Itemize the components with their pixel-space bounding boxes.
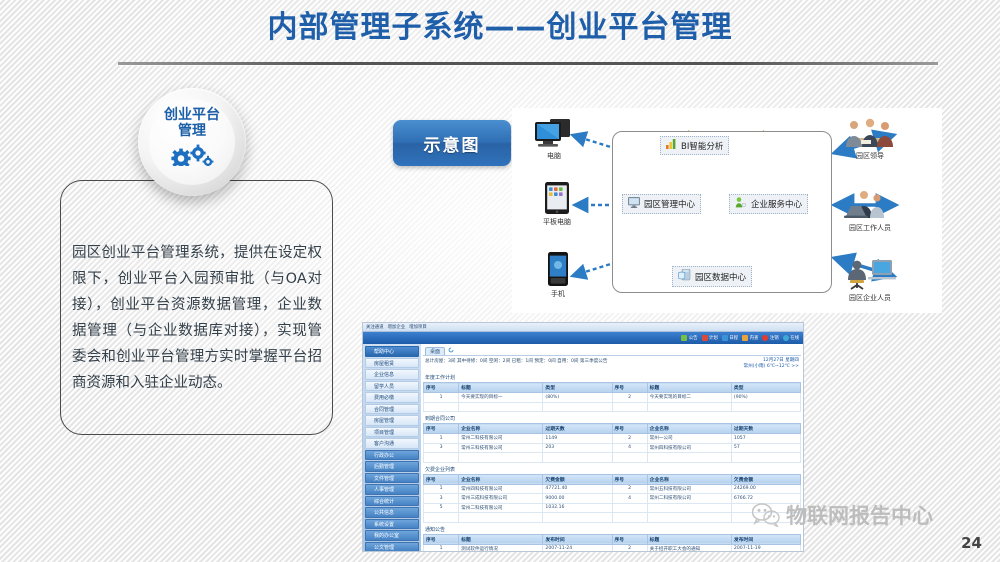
toolbar-button-plan[interactable]: 计划 — [702, 335, 718, 341]
menubar-item[interactable]: 增加项目 — [409, 324, 427, 330]
table-row[interactable]: 5常州二科技有限公司1032.16 — [424, 503, 801, 513]
diagram-node-label: 园区数据中心 — [695, 271, 746, 283]
tablet-icon — [545, 208, 569, 216]
diagram-actor-label: 园区企业人员 — [838, 294, 902, 302]
table-cell: 3 — [424, 443, 459, 453]
calendar-icon — [722, 335, 728, 341]
column-header[interactable]: 企业名称 — [459, 424, 543, 434]
table-cell-empty — [543, 453, 612, 463]
app-menubar: 关注通道 增加企业 增加项目 — [363, 323, 803, 332]
column-header[interactable]: 发布时间 — [731, 534, 800, 544]
leaders-meeting-icon — [841, 142, 899, 150]
table-cell-empty — [647, 513, 731, 523]
table-cell-empty — [459, 453, 543, 463]
table-header-row: 序号标题发布时间序号标题发布时间 — [424, 534, 801, 544]
table-cell: 1 — [424, 393, 459, 403]
app-main: 桌面 总计房屋：3间 其中待修：0间 空闲：2间 已租：1间 预定：0间 自用：… — [421, 344, 803, 552]
column-header[interactable]: 欠费金额 — [543, 474, 612, 484]
description-text: 园区创业平台管理系统，提供在设定权限下，创业平台入园预审批（与OA对接），创业平… — [72, 240, 322, 396]
table-cell: 2 — [612, 393, 647, 403]
sidebar-item[interactable]: 综合统计 — [365, 496, 419, 507]
toolbar-button-online[interactable]: 在线 — [783, 335, 799, 341]
column-header[interactable]: 序号 — [612, 534, 647, 544]
table-cell: 常州四科技有限公司 — [647, 443, 731, 453]
watermark: 物联网报告中心 — [752, 500, 933, 530]
table-filler-row — [424, 402, 801, 412]
database-server-icon — [678, 269, 691, 284]
table-row[interactable]: 1今天要实现的目标一(80%)2今天要实现的目标二(90%) — [424, 393, 801, 403]
watermark-text: 物联网报告中心 — [786, 500, 933, 530]
table-cell: 今天要实现的目标二 — [647, 393, 731, 403]
sidebar-item[interactable]: 企业信息 — [365, 369, 419, 380]
toolbar-button-logout[interactable]: 注销 — [762, 335, 778, 341]
table-cell: 57 — [731, 443, 800, 453]
table-cell: 常州二科技有限公司 — [459, 503, 543, 513]
column-header[interactable]: 序号 — [424, 474, 459, 484]
smartphone-icon — [548, 280, 568, 288]
table-cell: 2007-11-19 — [731, 544, 800, 552]
bar-chart-icon — [666, 139, 677, 152]
table-cell: 1032.16 — [543, 503, 612, 513]
table-header-row: 序号企业名称过期天数序号企业名称过期天数 — [424, 424, 801, 434]
column-header[interactable]: 企业名称 — [647, 424, 731, 434]
diagram-node-label: BI智能分析 — [681, 140, 723, 152]
menubar-item[interactable]: 关注通道 — [366, 324, 384, 330]
table-cell — [647, 503, 731, 513]
diagram-device-label: 平板电脑 — [540, 218, 574, 226]
column-header[interactable]: 标题 — [647, 383, 731, 393]
schematic-tag: 示意图 — [393, 120, 511, 166]
refresh-icon[interactable] — [448, 347, 454, 355]
service-person-icon — [735, 197, 747, 211]
table-cell-empty — [731, 453, 800, 463]
toolbar-label: 日程 — [729, 335, 738, 341]
app-section: 欠费企业列表序号企业名称欠费金额序号企业名称欠费金额1常州四科技有限公司4772… — [423, 465, 801, 523]
header-divider — [118, 62, 938, 65]
diagram-actor-enterprise-user: 园区企业人员 — [838, 256, 902, 302]
table-cell: 5 — [424, 503, 459, 513]
monitor-icon — [628, 197, 640, 211]
plan-icon — [702, 335, 708, 341]
table-row[interactable]: 3常州三成科技有限公司9000.004常州二科技有限公司6766.72 — [424, 494, 801, 504]
table-row[interactable]: 1常州四科技有限公司47721.402常州五科技有限公司24269.00 — [424, 484, 801, 494]
column-header[interactable]: 序号 — [424, 534, 459, 544]
toolbar-button-announcement[interactable]: 公告 — [681, 335, 697, 341]
app-sidebar: 帮助中心房屋租赁企业信息留学人员费用必缴合同管理房屋管理项目管理客户沟通行政办公… — [363, 344, 421, 552]
app-toolbar: 公告 计划 日程 内查 注销 在线 — [363, 332, 803, 344]
column-header[interactable]: 序号 — [424, 424, 459, 434]
slide-header: 内部管理子系统——创业平台管理 — [0, 8, 1000, 48]
sidebar-item[interactable]: 房屋租赁 — [365, 358, 419, 369]
table-cell: 1 — [424, 484, 459, 494]
sidebar-item[interactable]: 人事管理 — [365, 484, 419, 495]
toolbar-label: 注销 — [770, 335, 779, 341]
column-header[interactable]: 类型 — [543, 383, 612, 393]
schematic-tag-label: 示意图 — [424, 131, 481, 156]
table-cell: 4 — [612, 443, 647, 453]
app-tabrow: 桌面 — [423, 346, 801, 356]
table-cell: 常州二科技有限公司 — [647, 494, 731, 504]
table-cell-empty — [543, 513, 612, 523]
sidebar-item[interactable]: 系统设置 — [365, 519, 419, 530]
table-cell: 测试软件运行情况 — [459, 544, 543, 552]
data-table: 序号企业名称欠费金额序号企业名称欠费金额1常州四科技有限公司47721.402常… — [423, 474, 801, 523]
table-cell-empty — [424, 402, 459, 412]
toolbar-label: 在线 — [790, 335, 799, 341]
table-cell: 常州一公司 — [647, 434, 731, 444]
online-icon — [783, 335, 789, 341]
data-table: 序号标题发布时间序号标题发布时间1测试软件运行情况2007-11-242关于招开… — [423, 534, 801, 553]
section-title: 欠费企业列表 — [423, 465, 801, 474]
table-cell: 47721.40 — [543, 484, 612, 494]
sidebar-item[interactable]: 客户沟通 — [365, 438, 419, 449]
column-header[interactable]: 序号 — [612, 383, 647, 393]
diagram-node-bi-analysis: BI智能分析 — [660, 136, 729, 155]
data-table: 序号标题类型序号标题类型1今天要实现的目标一(80%)2今天要实现的目标二(90… — [423, 382, 801, 412]
sidebar-item[interactable]: 文件管理 — [365, 473, 419, 484]
table-cell: 203 — [543, 443, 612, 453]
table-row[interactable]: 1常州二科技有限公司11492常州一公司1057 — [424, 434, 801, 444]
table-cell-empty — [424, 453, 459, 463]
table-cell: 1 — [424, 544, 459, 552]
page-number: 24 — [961, 534, 982, 552]
table-cell: 3 — [424, 494, 459, 504]
topic-badge-inner: 创业平台 管理 — [149, 99, 235, 185]
diagram-node-park-data-center: 园区数据中心 — [672, 266, 752, 287]
announcement-icon — [681, 335, 687, 341]
table-cell-empty — [731, 402, 800, 412]
column-header[interactable]: 过期天数 — [731, 424, 800, 434]
table-filler-row — [424, 513, 801, 523]
column-header[interactable]: 过期天数 — [543, 424, 612, 434]
tab-desktop[interactable]: 桌面 — [425, 347, 445, 355]
app-section: 到期合同公司序号企业名称过期天数序号企业名称过期天数1常州二科技有限公司1149… — [423, 414, 801, 463]
table-cell-empty — [612, 402, 647, 412]
staff-working-icon — [844, 214, 896, 222]
sidebar-item[interactable]: 公共信息 — [365, 507, 419, 518]
table-cell-empty — [459, 513, 543, 523]
diagram-device-label: 电脑 — [528, 152, 580, 160]
diagram-actor-label: 园区工作人​员 — [838, 224, 902, 232]
status-summary: 总计房屋：3间 其中待修：0间 空闲：2间 已租：1间 预定：0间 自用：0间 … — [425, 358, 608, 364]
desktop-computer-icon — [534, 142, 574, 150]
column-header[interactable]: 企业名称 — [647, 474, 731, 484]
app-sections: 年度工作计划序号标题类型序号标题类型1今天要实现的目标一(80%)2今天要实现的… — [423, 373, 801, 552]
table-cell: 2 — [612, 434, 647, 444]
table-filler-row — [424, 453, 801, 463]
table-cell-empty — [612, 513, 647, 523]
diagram-device-tablet: 平板电脑 — [540, 182, 574, 226]
column-header[interactable]: 标题 — [647, 534, 731, 544]
status-date-weather: 12月27日 星期四 常州(小雨) 6℃~12℃ >> — [743, 358, 799, 370]
table-header-row: 序号企业名称欠费金额序号企业名称欠费金额 — [424, 474, 801, 484]
toolbar-button-calendar[interactable]: 日程 — [722, 335, 738, 341]
table-cell-empty — [424, 513, 459, 523]
column-header[interactable]: 欠费金额 — [731, 474, 800, 484]
app-section: 年度工作计划序号标题类型序号标题类型1今天要实现的目标一(80%)2今天要实现的… — [423, 373, 801, 412]
logout-icon — [762, 335, 768, 341]
table-cell: 2007-11-24 — [543, 544, 612, 552]
sidebar-item[interactable]: 留学人员 — [365, 381, 419, 392]
section-title: 通知公告 — [423, 525, 801, 534]
diagram-actor-label: 园区领导 — [838, 152, 902, 160]
menubar-item[interactable]: 增加企业 — [388, 324, 406, 330]
diagram-node-park-management-center: 园区管理中心 — [622, 194, 701, 214]
column-header[interactable]: 企业名称 — [459, 474, 543, 484]
table-cell: 常州三成科技有限公司 — [459, 494, 543, 504]
table-cell: 关于招开职工大会的通知 — [647, 544, 731, 552]
column-header[interactable]: 序号 — [612, 474, 647, 484]
diagram-node-label: 园区管理中心 — [644, 198, 695, 210]
topic-badge: 创业平台 管理 — [138, 88, 246, 196]
data-table: 序号企业名称过期天数序号企业名称过期天数1常州二科技有限公司11492常州一公司… — [423, 423, 801, 463]
table-cell-empty — [647, 453, 731, 463]
table-row[interactable]: 1测试软件运行情况2007-11-242关于招开职工大会的通知2007-11-1… — [424, 544, 801, 552]
sidebar-item[interactable]: 我的办公室 — [365, 530, 419, 541]
diagram-device-computer: 电脑 — [528, 118, 580, 160]
topic-badge-line1: 创业平台 — [164, 107, 220, 123]
app-screenshot: 关注通道 增加企业 增加项目 公告 计划 日程 内查 注销 在线 帮助中 — [362, 322, 804, 552]
diagram-actor-park-leaders: 园区领导 — [838, 118, 902, 160]
sidebar-item[interactable]: 合同管理 — [365, 404, 419, 415]
table-cell: 常州三科技有限公司 — [459, 443, 543, 453]
status-date: 12月27日 星期四 — [763, 358, 799, 363]
status-weather[interactable]: 常州(小雨) 6℃~12℃ >> — [743, 364, 799, 369]
table-cell: 1 — [424, 434, 459, 444]
table-cell: (80%) — [543, 393, 612, 403]
page-title: 内部管理子系统——创业平台管理 — [0, 8, 1000, 48]
diagram-device-phone: 手机 — [542, 252, 574, 298]
table-row[interactable]: 3常州三科技有限公司2034常州四科技有限公司57 — [424, 443, 801, 453]
table-cell: 4 — [612, 494, 647, 504]
diagram-node-label: 企业服务中心 — [751, 198, 802, 210]
app-section: 通知公告序号标题发布时间序号标题发布时间1测试软件运行情况2007-11-242… — [423, 525, 801, 553]
app-body: 帮助中心房屋租赁企业信息留学人员费用必缴合同管理房屋管理项目管理客户沟通行政办公… — [363, 344, 803, 552]
table-cell-empty — [612, 453, 647, 463]
table-header-row: 序号标题类型序号标题类型 — [424, 383, 801, 393]
table-cell: 1149 — [543, 434, 612, 444]
toolbar-label: 计划 — [709, 335, 718, 341]
column-header[interactable]: 序号 — [612, 424, 647, 434]
sidebar-item[interactable]: 帮助中心 — [365, 346, 419, 357]
table-cell-empty — [543, 402, 612, 412]
column-header[interactable]: 类型 — [731, 383, 800, 393]
table-cell: 2 — [612, 544, 647, 552]
table-cell: 常州二科技有限公司 — [459, 434, 543, 444]
wechat-icon — [752, 503, 780, 527]
diagram-node-enterprise-service-center: 企业服务中心 — [729, 194, 808, 214]
sidebar-item[interactable]: 房屋管理 — [365, 415, 419, 426]
column-header[interactable]: 标题 — [459, 534, 543, 544]
table-cell: 今天要实现的目标一 — [459, 393, 543, 403]
sidebar-item[interactable]: 后勤管理 — [365, 461, 419, 472]
table-cell: 常州四科技有限公司 — [459, 484, 543, 494]
section-title: 年度工作计划 — [423, 373, 801, 382]
table-cell: 9000.00 — [543, 494, 612, 504]
table-cell: 2 — [612, 484, 647, 494]
diagram-device-label: 手机 — [542, 290, 574, 298]
column-header[interactable]: 标题 — [459, 383, 543, 393]
sidebar-item[interactable]: 行政办公 — [365, 450, 419, 461]
sidebar-item[interactable]: 公文管理 — [365, 542, 419, 553]
toolbar-label: 内查 — [750, 335, 759, 341]
table-cell — [612, 503, 647, 513]
section-title: 到期合同公司 — [423, 414, 801, 423]
enterprise-user-icon — [842, 284, 898, 292]
sidebar-item[interactable]: 项目管理 — [365, 427, 419, 438]
topic-badge-line2: 管理 — [178, 123, 206, 139]
table-cell-empty — [647, 402, 731, 412]
table-cell: 常州五科技有限公司 — [647, 484, 731, 494]
table-cell: 24269.00 — [731, 484, 800, 494]
toolbar-label: 公告 — [689, 335, 698, 341]
table-cell: (90%) — [731, 393, 800, 403]
search-icon — [742, 335, 748, 341]
column-header[interactable]: 发布时间 — [543, 534, 612, 544]
toolbar-button-search[interactable]: 内查 — [742, 335, 758, 341]
column-header[interactable]: 序号 — [424, 383, 459, 393]
table-cell-empty — [459, 402, 543, 412]
sidebar-item[interactable]: 费用必缴 — [365, 392, 419, 403]
app-status-line: 总计房屋：3间 其中待修：0间 空闲：2间 已租：1间 预定：0间 自用：0间 … — [423, 356, 801, 371]
table-cell: 1057 — [731, 434, 800, 444]
diagram-actor-park-staff: 园区工作人​员 — [838, 190, 902, 232]
gears-icon — [168, 140, 216, 166]
